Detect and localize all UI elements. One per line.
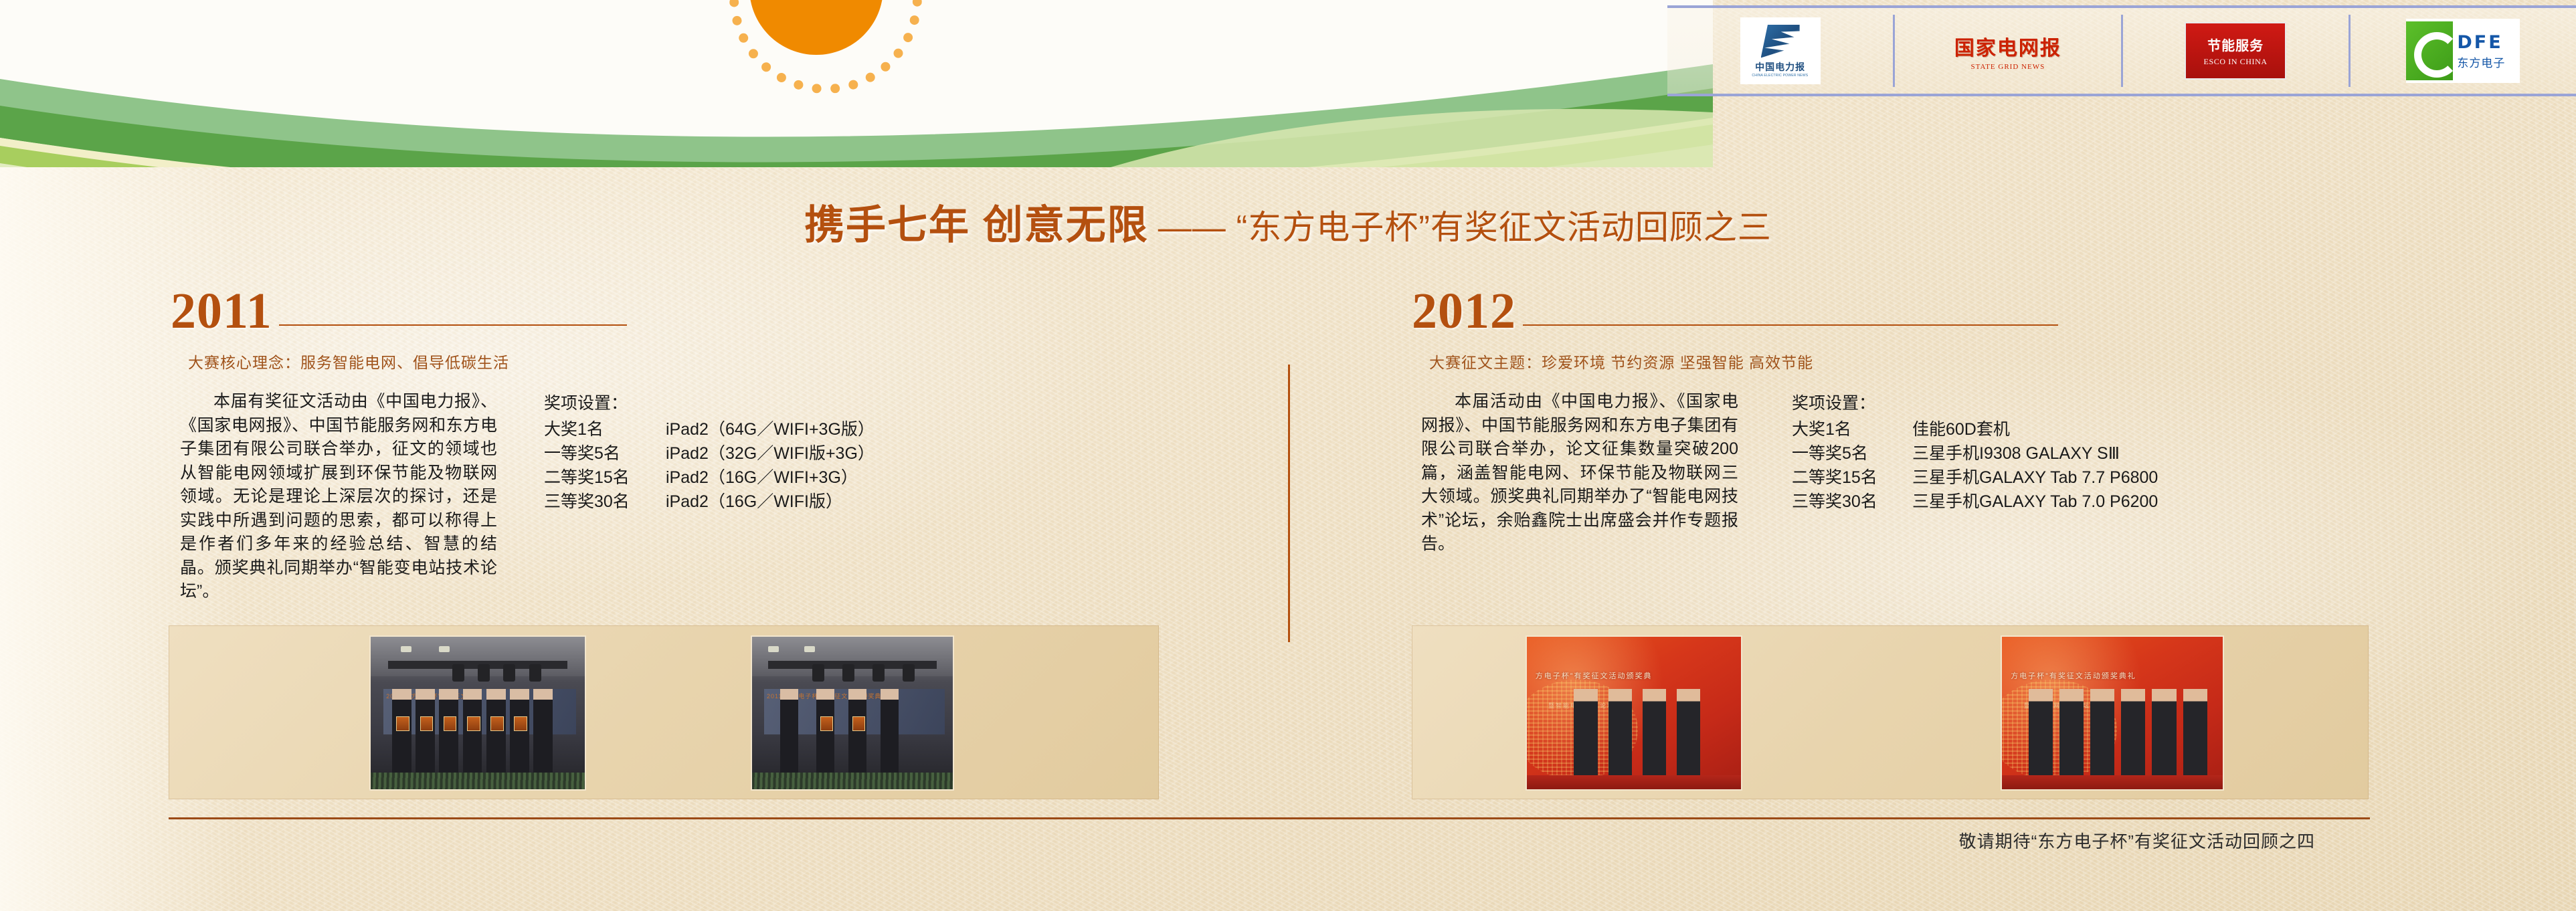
award-row: 一等奖5名 iPad2（32G／WIFI版+3G） — [544, 441, 875, 466]
photo-stage-carpet — [1527, 775, 1741, 789]
photo-2012-award-ceremony: 方电子杯”有奖征文活动颁奖典 暨智能电网技术论坛 — [1526, 635, 1742, 791]
award-prize: 三星手机GALAXY Tab 7.7 P6800 — [1912, 466, 2158, 490]
logo-cell-state-grid-news: 国家电网报 STATE GRID NEWS — [1895, 15, 2122, 87]
photo-person — [2029, 689, 2053, 783]
photo-spotlight-icon — [812, 664, 824, 682]
photo-award-plaque — [820, 716, 833, 732]
photo-person — [1677, 689, 1700, 783]
photo-banner-text: 方电子杯”有奖征文活动颁奖典 — [1536, 670, 1737, 681]
photo-award-plaque — [490, 716, 504, 732]
section-subtitle-2012: 大赛征文主题：珍爱环境 节约资源 坚强智能 高效节能 — [1429, 350, 2415, 373]
esco-in-china-logo: 节能服务 ESCO IN CHINA — [2185, 22, 2286, 80]
cepn-logo-cn: 中国电力报 — [1755, 60, 1805, 74]
photo-lamp-icon — [439, 646, 450, 652]
page-title-main: 携手七年 创意无限 — [804, 203, 1149, 247]
photo-person — [439, 689, 458, 777]
year-label-2011: 2011 — [171, 288, 272, 335]
photo-person — [2183, 689, 2207, 783]
photo-person — [486, 689, 506, 777]
photo-person — [1574, 689, 1597, 783]
photo-spotlight-icon — [478, 664, 490, 682]
photo-banner-text: 方电子杯”有奖征文活动颁奖典礼 — [2011, 670, 2218, 681]
award-row: 一等奖5名 三星手机I9308 GALAXY SⅢ — [1792, 441, 2158, 466]
photo-award-plaque — [852, 716, 865, 732]
year-rule-2011 — [279, 324, 627, 326]
photo-spotlight-icon — [842, 664, 854, 682]
photo-person — [1643, 689, 1666, 783]
awards-block-2011: 奖项设置： 大奖1名 iPad2（64G／WIFI+3G版） 一等奖5名 iPa… — [544, 390, 875, 514]
year-label-2012: 2012 — [1412, 288, 1516, 335]
dfe-logo-en: DFE — [2457, 32, 2505, 53]
logo-cell-dfe: DFE 东方电子 — [2351, 15, 2576, 87]
award-prize: 三星手机GALAXY Tab 7.0 P6200 — [1912, 490, 2158, 514]
logo-cell-china-electric-power-news: 中国电力报 CHINA ELECTRIC POWER NEWS — [1667, 15, 1895, 87]
state-grid-news-logo: 国家电网报 STATE GRID NEWS — [1954, 31, 2061, 71]
awards-title-2011: 奖项设置： — [544, 390, 875, 414]
footer-divider — [169, 817, 2370, 819]
award-rank: 大奖1名 — [544, 417, 666, 441]
award-row: 二等奖15名 iPad2（16G／WIFI+3G） — [544, 466, 875, 490]
dfe-swirl-icon — [2406, 21, 2453, 80]
page-title-sub: —— “东方电子杯”有奖征文活动回顾之三 — [1158, 209, 1772, 246]
dfe-logo-text: DFE 东方电子 — [2453, 32, 2505, 70]
header-swoosh-decoration — [0, 0, 1713, 167]
photo-person — [416, 689, 435, 777]
footer-note: 敬请期待“东方电子杯”有奖征文活动回顾之四 — [1959, 828, 2315, 853]
year-heading-row-2011: 2011 — [171, 288, 1174, 335]
cepn-mark-icon — [1761, 25, 1800, 58]
photo-person — [510, 689, 529, 777]
award-row: 大奖1名 iPad2（64G／WIFI+3G版） — [544, 417, 875, 441]
year-heading-row-2012: 2012 — [1412, 288, 2415, 335]
award-rank: 二等奖15名 — [1792, 466, 1912, 490]
logo-cell-esco-in-china: 节能服务 ESCO IN CHINA — [2123, 15, 2351, 87]
section-body-2011: 本届有奖征文活动由《中国电力报》、《国家电网报》、中国节能服务网和东方电子集团有… — [171, 390, 1174, 604]
award-prize: iPad2（16G／WIFI版） — [666, 490, 842, 514]
award-prize: iPad2（64G／WIFI+3G版） — [666, 417, 875, 441]
award-row: 三等奖30名 三星手机GALAXY Tab 7.0 P6200 — [1792, 490, 2158, 514]
dfe-logo: DFE 东方电子 — [2406, 19, 2520, 83]
photo-lamp-icon — [401, 646, 411, 652]
year-rule-2012 — [1523, 324, 2058, 326]
photo-award-plaque — [444, 716, 457, 732]
dfe-logo-cn: 东方电子 — [2457, 54, 2505, 70]
awards-title-2012: 奖项设置： — [1792, 390, 2158, 414]
photo-person — [2059, 689, 2084, 783]
photo-spotlight-icon — [452, 664, 464, 682]
photo-award-plaque — [420, 716, 434, 732]
award-rank: 三等奖30名 — [1792, 490, 1912, 514]
photo-panel-2012: 方电子杯”有奖征文活动颁奖典 暨智能电网技术论坛 方电子杯”有奖征文活动颁奖典礼… — [1412, 625, 2369, 799]
sponsor-logo-bar: 中国电力报 CHINA ELECTRIC POWER NEWS 国家电网报 ST… — [1667, 5, 2576, 96]
section-paragraph-2012: 本届活动由《中国电力报》、《国家电网报》、中国节能服务网和东方电子集团有限公司联… — [1421, 390, 1738, 556]
section-subtitle-2011: 大赛核心理念：服务智能电网、倡导低碳生活 — [188, 350, 1174, 373]
award-prize: 三星手机I9308 GALAXY SⅢ — [1912, 441, 2120, 466]
award-row: 大奖1名 佳能60D套机 — [1792, 417, 2158, 441]
award-row: 二等奖15名 三星手机GALAXY Tab 7.7 P6800 — [1792, 466, 2158, 490]
award-rank: 一等奖5名 — [1792, 441, 1912, 466]
photo-2011-award-ceremony: 2011“东方电子杯”有奖征文活动颁奖典礼 — [751, 635, 954, 791]
photo-spotlight-icon — [529, 664, 541, 682]
award-rank: 三等奖30名 — [544, 490, 666, 514]
photo-panel-2011: 2011“东方电子杯”有奖征文活动 2011“东方电子杯” — [169, 625, 1159, 799]
award-prize: iPad2（32G／WIFI版+3G） — [666, 441, 875, 466]
photo-spotlight-icon — [872, 664, 885, 682]
photo-award-plaque — [467, 716, 480, 732]
sgn-logo-en: STATE GRID NEWS — [1954, 63, 2061, 71]
photo-2012-group: 方电子杯”有奖征文活动颁奖典礼 暨智能电网技术论坛 — [2001, 635, 2224, 791]
photo-person — [881, 689, 899, 777]
poster-root: 中国电力报 CHINA ELECTRIC POWER NEWS 国家电网报 ST… — [0, 0, 2576, 911]
column-divider — [1288, 365, 1290, 642]
award-rank: 大奖1名 — [1792, 417, 1912, 441]
award-row: 三等奖30名 iPad2（16G／WIFI版） — [544, 490, 875, 514]
award-rank: 一等奖5名 — [544, 441, 666, 466]
photo-person — [780, 689, 798, 777]
esco-logo-en: ESCO IN CHINA — [2204, 57, 2268, 67]
photo-spotlight-icon — [503, 664, 515, 682]
award-rank: 二等奖15名 — [544, 466, 666, 490]
section-body-2012: 本届活动由《中国电力报》、《国家电网报》、中国节能服务网和东方电子集团有限公司联… — [1412, 390, 2415, 556]
awards-block-2012: 奖项设置： 大奖1名 佳能60D套机 一等奖5名 三星手机I9308 GALAX… — [1792, 390, 2158, 514]
sgn-logo-cn: 国家电网报 — [1954, 31, 2061, 61]
section-paragraph-2011: 本届有奖征文活动由《中国电力报》、《国家电网报》、中国节能服务网和东方电子集团有… — [180, 390, 497, 604]
photo-award-plaque — [514, 716, 527, 732]
page-title: 携手七年 创意无限—— “东方电子杯”有奖征文活动回顾之三 — [0, 193, 2576, 251]
photo-stage-foliage — [371, 773, 585, 789]
section-2012: 2012 大赛征文主题：珍爱环境 节约资源 坚强智能 高效节能 本届活动由《中国… — [1412, 288, 2415, 556]
photo-person — [816, 689, 834, 777]
photo-person — [533, 689, 553, 777]
esco-logo-cn: 节能服务 — [2207, 35, 2264, 54]
photo-person — [2090, 689, 2114, 783]
photo-person — [392, 689, 411, 777]
cepn-logo-en: CHINA ELECTRIC POWER NEWS — [1752, 74, 1809, 77]
photo-lamp-icon — [768, 646, 779, 652]
china-electric-power-news-logo: 中国电力报 CHINA ELECTRIC POWER NEWS — [1740, 17, 1821, 84]
award-prize: iPad2（16G／WIFI+3G） — [666, 466, 858, 490]
photo-stage-foliage — [752, 773, 953, 789]
photo-person — [848, 689, 866, 777]
photo-lamp-icon — [804, 646, 815, 652]
photo-person — [1608, 689, 1632, 783]
photo-award-plaque — [396, 716, 409, 732]
award-prize: 佳能60D套机 — [1912, 417, 2010, 441]
photo-spotlight-icon — [903, 664, 915, 682]
photo-person — [463, 689, 482, 777]
photo-2011-award-group: 2011“东方电子杯”有奖征文活动 — [369, 635, 586, 791]
photo-stage-carpet — [2002, 775, 2223, 789]
section-2011: 2011 大赛核心理念：服务智能电网、倡导低碳生活 本届有奖征文活动由《中国电力… — [171, 288, 1174, 604]
photo-person — [2152, 689, 2176, 783]
photo-person — [2121, 689, 2145, 783]
